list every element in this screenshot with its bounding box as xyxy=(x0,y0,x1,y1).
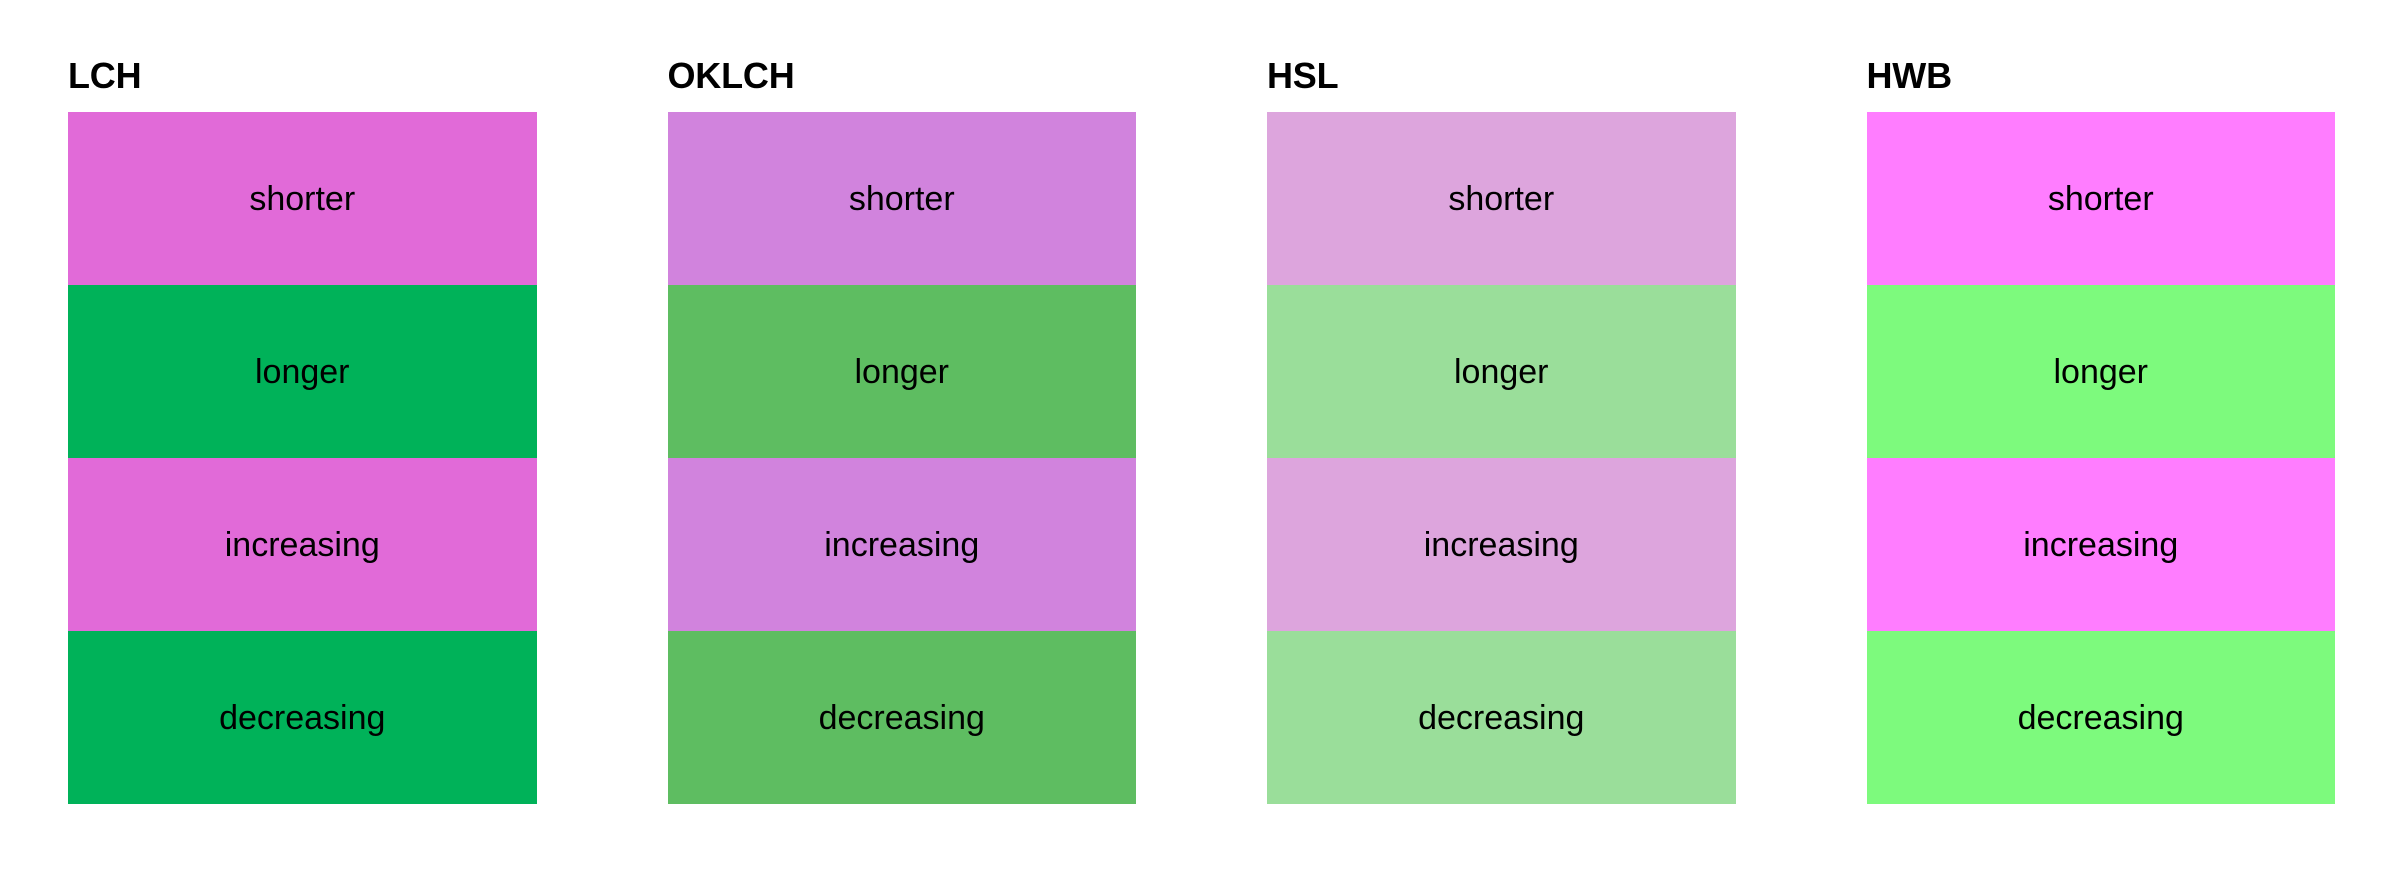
color-swatch-longer: longer xyxy=(68,285,537,458)
swatch-label: shorter xyxy=(1448,182,1554,216)
color-swatch-longer: longer xyxy=(668,285,1137,458)
swatch-label: increasing xyxy=(824,528,979,562)
color-space-column-hsl: HSLshorterlongerincreasingdecreasing xyxy=(1199,0,1799,804)
swatch-label: decreasing xyxy=(819,701,985,735)
swatch-stack: shorterlongerincreasingdecreasing xyxy=(668,112,1137,804)
color-swatch-decreasing: decreasing xyxy=(68,631,537,804)
swatch-label: longer xyxy=(854,355,949,389)
swatch-label: longer xyxy=(255,355,350,389)
color-swatch-decreasing: decreasing xyxy=(668,631,1137,804)
swatch-label: decreasing xyxy=(1418,701,1584,735)
color-swatch-decreasing: decreasing xyxy=(1267,631,1736,804)
swatch-label: longer xyxy=(1454,355,1549,389)
swatch-label: increasing xyxy=(2023,528,2178,562)
color-swatch-longer: longer xyxy=(1267,285,1736,458)
column-title: HSL xyxy=(1267,58,1736,94)
color-swatch-increasing: increasing xyxy=(68,458,537,631)
color-swatch-decreasing: decreasing xyxy=(1867,631,2336,804)
color-swatch-shorter: shorter xyxy=(1267,112,1736,285)
swatch-label: shorter xyxy=(849,182,955,216)
swatch-label: decreasing xyxy=(2018,701,2184,735)
swatch-stack: shorterlongerincreasingdecreasing xyxy=(1867,112,2336,804)
color-interpolation-grid: LCHshorterlongerincreasingdecreasingOKLC… xyxy=(0,0,2398,880)
color-swatch-shorter: shorter xyxy=(668,112,1137,285)
swatch-label: increasing xyxy=(1424,528,1579,562)
color-swatch-shorter: shorter xyxy=(68,112,537,285)
swatch-label: increasing xyxy=(225,528,380,562)
column-title: HWB xyxy=(1867,58,2336,94)
swatch-label: shorter xyxy=(249,182,355,216)
color-swatch-increasing: increasing xyxy=(668,458,1137,631)
swatch-stack: shorterlongerincreasingdecreasing xyxy=(68,112,537,804)
swatch-label: longer xyxy=(2053,355,2148,389)
swatch-label: shorter xyxy=(2048,182,2154,216)
color-space-column-hwb: HWBshorterlongerincreasingdecreasing xyxy=(1799,0,2398,804)
color-swatch-longer: longer xyxy=(1867,285,2336,458)
swatch-label: decreasing xyxy=(219,701,385,735)
swatch-stack: shorterlongerincreasingdecreasing xyxy=(1267,112,1736,804)
column-title: LCH xyxy=(68,58,537,94)
color-swatch-shorter: shorter xyxy=(1867,112,2336,285)
color-swatch-increasing: increasing xyxy=(1867,458,2336,631)
color-space-column-oklch: OKLCHshorterlongerincreasingdecreasing xyxy=(600,0,1200,804)
color-swatch-increasing: increasing xyxy=(1267,458,1736,631)
column-title: OKLCH xyxy=(668,58,1137,94)
color-space-column-lch: LCHshorterlongerincreasingdecreasing xyxy=(0,0,600,804)
